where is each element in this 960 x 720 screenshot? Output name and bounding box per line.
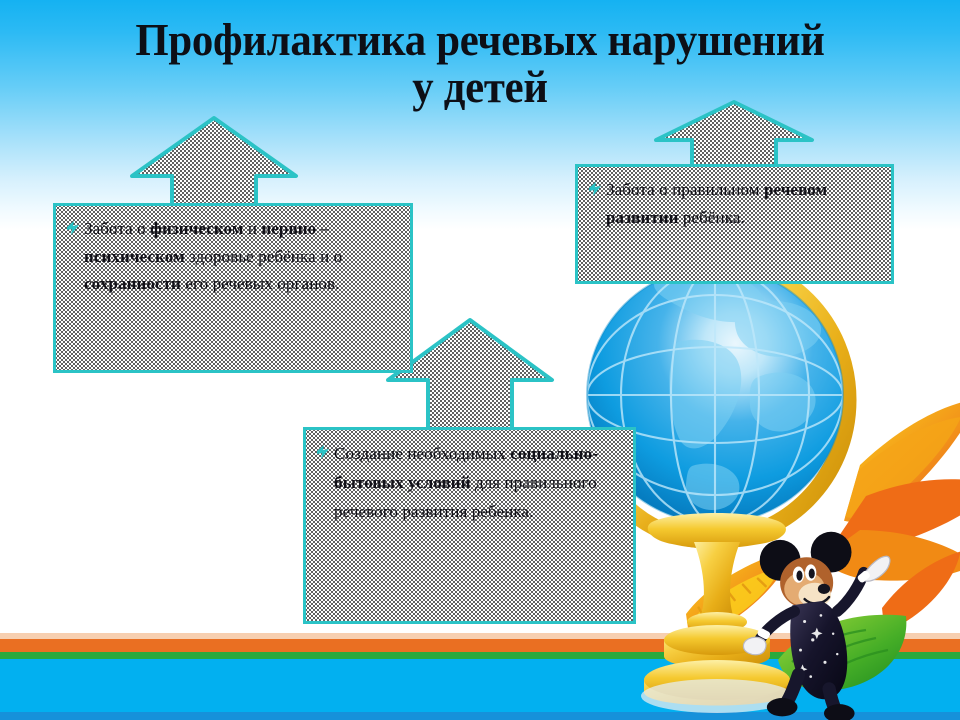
text-box-speech-development[interactable]: Забота о правильном речевом развитии реб… — [575, 164, 894, 284]
slide-canvas: Профилактика речевых нарушений у детей З… — [0, 0, 960, 720]
text-box-physical-health[interactable]: Забота о физическом и нервно – психическ… — [53, 203, 413, 373]
arrow-bullet-icon — [66, 220, 80, 236]
arrow-bullet-icon — [588, 181, 602, 197]
text-box-body: Забота о физическом и нервно – психическ… — [84, 215, 398, 298]
arrow-bullet-icon — [316, 444, 330, 460]
arrow-up-left — [128, 114, 300, 210]
page-title: Профилактика речевых нарушений у детей — [34, 16, 927, 111]
text-box-social-conditions[interactable]: Создание необходимых социально-бытовых у… — [303, 427, 636, 624]
text-box-body: Забота о правильном речевом развитии реб… — [606, 176, 879, 232]
text-box-body: Создание необходимых социально-бытовых у… — [334, 439, 621, 527]
